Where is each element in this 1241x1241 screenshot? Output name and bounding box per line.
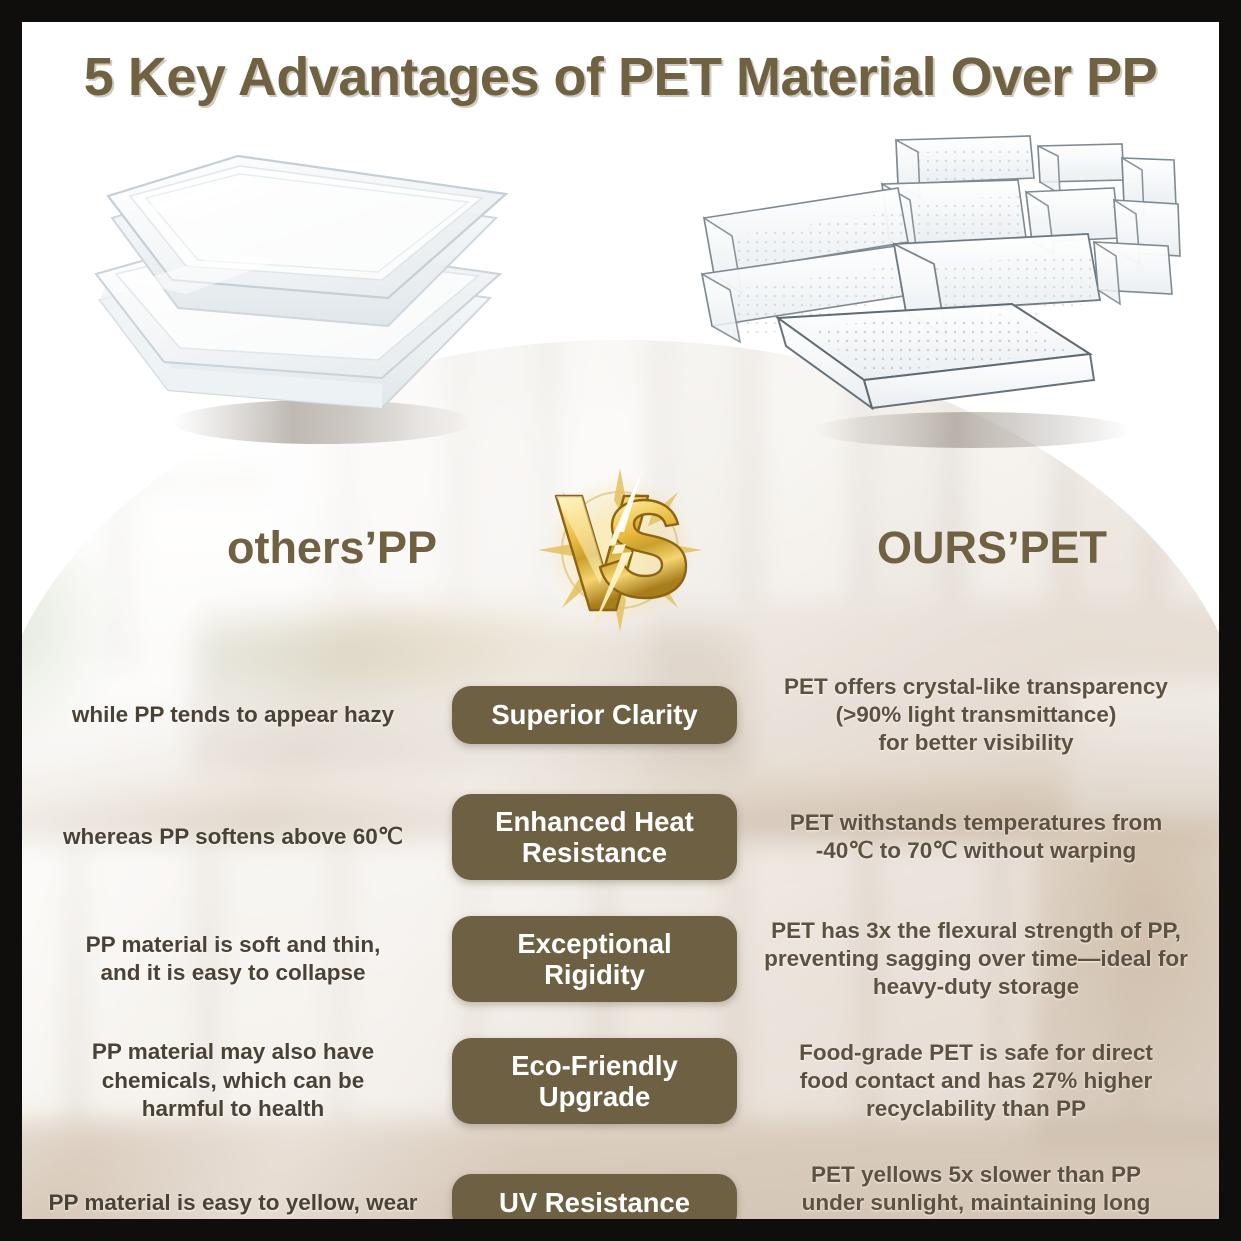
- column-heading-pet: OURS’PET: [782, 522, 1202, 574]
- pet-organizer-bins-image: [682, 122, 1192, 452]
- pet-description: Food-grade PET is safe for direct food c…: [737, 1039, 1219, 1123]
- feature-pill-enhanced-heat-resistance[interactable]: Enhanced Heat Resistance: [452, 794, 737, 881]
- pp-description: while PP tends to appear hazy: [22, 701, 452, 729]
- feature-pill-exceptional-rigidity[interactable]: Exceptional Rigidity: [452, 916, 737, 1003]
- pp-description: PP material is soft and thin, and it is …: [22, 931, 452, 988]
- feature-pill-superior-clarity[interactable]: Superior Clarity: [452, 686, 737, 744]
- pp-description: PP material may also have chemicals, whi…: [22, 1038, 452, 1123]
- pp-description: PP material is easy to yellow, wear: [22, 1189, 452, 1217]
- pp-description: whereas PP softens above 60℃: [22, 823, 452, 851]
- pet-description: PET withstands temperatures from -40℃ to…: [737, 809, 1219, 865]
- comparison-row: whereas PP softens above 60℃ Enhanced He…: [22, 776, 1219, 898]
- comparison-row: PP material is soft and thin, and it is …: [22, 898, 1219, 1020]
- feature-pill-eco-friendly-upgrade[interactable]: Eco-Friendly Upgrade: [452, 1038, 737, 1125]
- comparison-row: PP material may also have chemicals, whi…: [22, 1020, 1219, 1142]
- poster-frame: 5 Key Advantages of PET Material Over PP: [0, 0, 1241, 1241]
- pp-containers-image: [82, 122, 522, 452]
- comparison-row: PP material is easy to yellow, wear UV R…: [22, 1142, 1219, 1219]
- pet-description: PET yellows 5x slower than PP under sunl…: [737, 1161, 1219, 1219]
- comparison-rows: while PP tends to appear hazy Superior C…: [22, 654, 1219, 1219]
- comparison-row: while PP tends to appear hazy Superior C…: [22, 654, 1219, 776]
- feature-pill-uv-resistance[interactable]: UV Resistance: [452, 1174, 737, 1219]
- poster-stage: 5 Key Advantages of PET Material Over PP: [22, 22, 1219, 1219]
- pet-description: PET offers crystal-like transparency (>9…: [737, 673, 1219, 757]
- versus-badge: [520, 460, 720, 640]
- page-title: 5 Key Advantages of PET Material Over PP: [22, 46, 1219, 108]
- pet-description: PET has 3x the flexural strength of PP, …: [737, 917, 1219, 1001]
- column-heading-pp: others’PP: [132, 522, 532, 574]
